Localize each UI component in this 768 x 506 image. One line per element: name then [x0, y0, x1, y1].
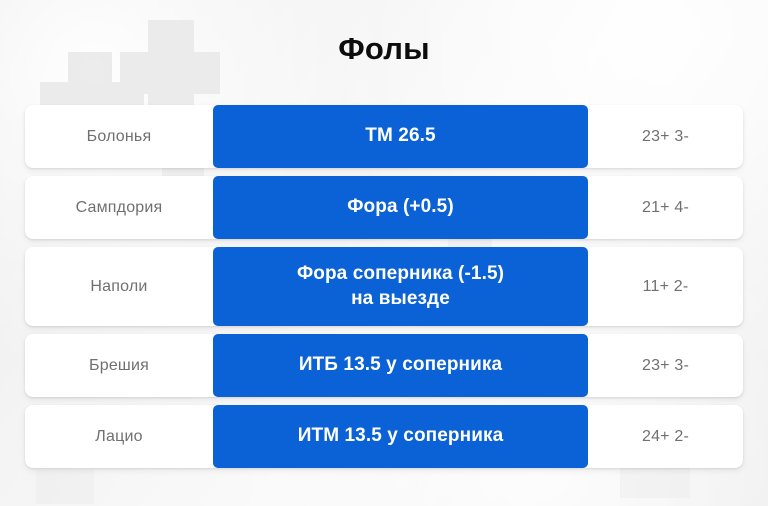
bet-label[interactable]: ТМ 26.5: [213, 105, 588, 168]
team-name: Наполи: [25, 247, 213, 326]
team-name: Брешия: [25, 334, 213, 397]
table-row[interactable]: Лацио ИТМ 13.5 у соперника 24+ 2-: [25, 405, 743, 468]
team-name: Сампдория: [25, 176, 213, 239]
team-name: Лацио: [25, 405, 213, 468]
bet-label[interactable]: Фора соперника (-1.5) на выезде: [213, 247, 588, 326]
bet-label-line2: на выезде: [351, 288, 450, 309]
stats-label: 23+ 3-: [588, 105, 743, 168]
page-title: Фолы: [0, 31, 768, 67]
table-row[interactable]: Болонья ТМ 26.5 23+ 3-: [25, 105, 743, 168]
bets-table: Болонья ТМ 26.5 23+ 3- Сампдория Фора (+…: [25, 105, 743, 476]
table-row[interactable]: Наполи Фора соперника (-1.5) на выезде 1…: [25, 247, 743, 326]
bet-label[interactable]: Фора (+0.5): [213, 176, 588, 239]
team-name: Болонья: [25, 105, 213, 168]
screen-root: Фолы Болонья ТМ 26.5 23+ 3- Сампдория Фо…: [0, 0, 768, 506]
stats-label: 24+ 2-: [588, 405, 743, 468]
stats-label: 11+ 2-: [588, 247, 743, 326]
bet-label-line1: Фора соперника (-1.5): [297, 263, 504, 284]
bet-label[interactable]: ИТМ 13.5 у соперника: [213, 405, 588, 468]
stats-label: 23+ 3-: [588, 334, 743, 397]
bet-label[interactable]: ИТБ 13.5 у соперника: [213, 334, 588, 397]
stats-label: 21+ 4-: [588, 176, 743, 239]
table-row[interactable]: Сампдория Фора (+0.5) 21+ 4-: [25, 176, 743, 239]
table-row[interactable]: Брешия ИТБ 13.5 у соперника 23+ 3-: [25, 334, 743, 397]
